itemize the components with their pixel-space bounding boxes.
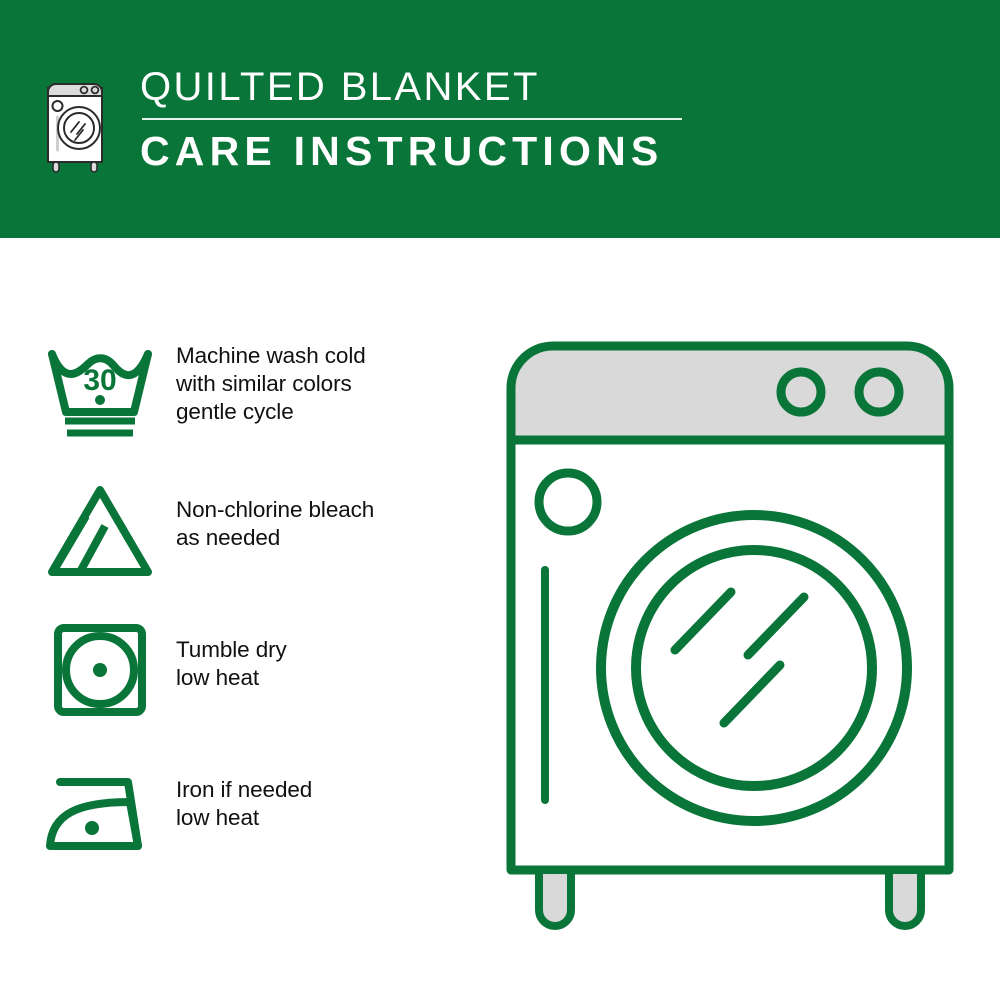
care-item-bleach: Non-chlorine bleach as needed xyxy=(44,470,484,610)
tumble-dry-low-icon xyxy=(44,620,156,720)
iron-heat-dot xyxy=(85,821,99,835)
control-panel xyxy=(511,346,949,440)
wash-heat-dot xyxy=(95,395,105,405)
care-item-dry: Tumble dry low heat xyxy=(44,610,484,750)
page-title: QUILTED BLANKET xyxy=(140,62,682,112)
leg-right xyxy=(889,870,921,926)
care-text-line: Iron if needed xyxy=(176,776,484,804)
care-text-line: as needed xyxy=(176,524,484,552)
care-text-line: with similar colors xyxy=(176,370,484,398)
care-item-wash: 30 Machine wash cold with similar colors… xyxy=(44,330,484,470)
title-divider xyxy=(142,118,682,120)
care-text-line: low heat xyxy=(176,664,484,692)
care-text-line: low heat xyxy=(176,804,484,832)
care-instructions-infographic: QUILTED BLANKET CARE INSTRUCTIONS 30 xyxy=(0,0,1000,1000)
header-content: QUILTED BLANKET CARE INSTRUCTIONS xyxy=(42,62,682,178)
wash-symbol-wrapper: 30 xyxy=(44,330,176,450)
care-text-line: Non-chlorine bleach xyxy=(176,496,484,524)
header-banner: QUILTED BLANKET CARE INSTRUCTIONS xyxy=(0,0,1000,238)
care-item-wash-text: Machine wash cold with similar colors ge… xyxy=(176,330,484,426)
wash-temperature-label: 30 xyxy=(83,364,116,397)
care-item-iron: Iron if needed low heat xyxy=(44,750,484,890)
wash-tub-30-gentle-icon: 30 xyxy=(44,340,156,440)
bleach-symbol-wrapper xyxy=(44,470,176,590)
dry-heat-dot xyxy=(93,663,107,677)
front-load-washing-machine-illustration xyxy=(495,330,965,930)
header-text-block: QUILTED BLANKET CARE INSTRUCTIONS xyxy=(140,62,682,176)
iron-symbol-wrapper xyxy=(44,750,176,870)
care-text-line: Machine wash cold xyxy=(176,342,484,370)
leg-left xyxy=(539,870,571,926)
care-item-dry-text: Tumble dry low heat xyxy=(176,610,484,692)
machine-cabinet xyxy=(511,390,949,870)
care-item-iron-text: Iron if needed low heat xyxy=(176,750,484,832)
care-text-line: gentle cycle xyxy=(176,398,484,426)
dry-symbol-wrapper xyxy=(44,610,176,730)
care-item-bleach-text: Non-chlorine bleach as needed xyxy=(176,470,484,552)
care-instruction-list: 30 Machine wash cold with similar colors… xyxy=(44,330,484,890)
washing-machine-icon xyxy=(42,70,114,178)
non-chlorine-bleach-triangle-icon xyxy=(44,480,156,580)
iron-low-heat-icon xyxy=(44,760,156,860)
page-subtitle: CARE INSTRUCTIONS xyxy=(140,126,682,176)
care-text-line: Tumble dry xyxy=(176,636,484,664)
